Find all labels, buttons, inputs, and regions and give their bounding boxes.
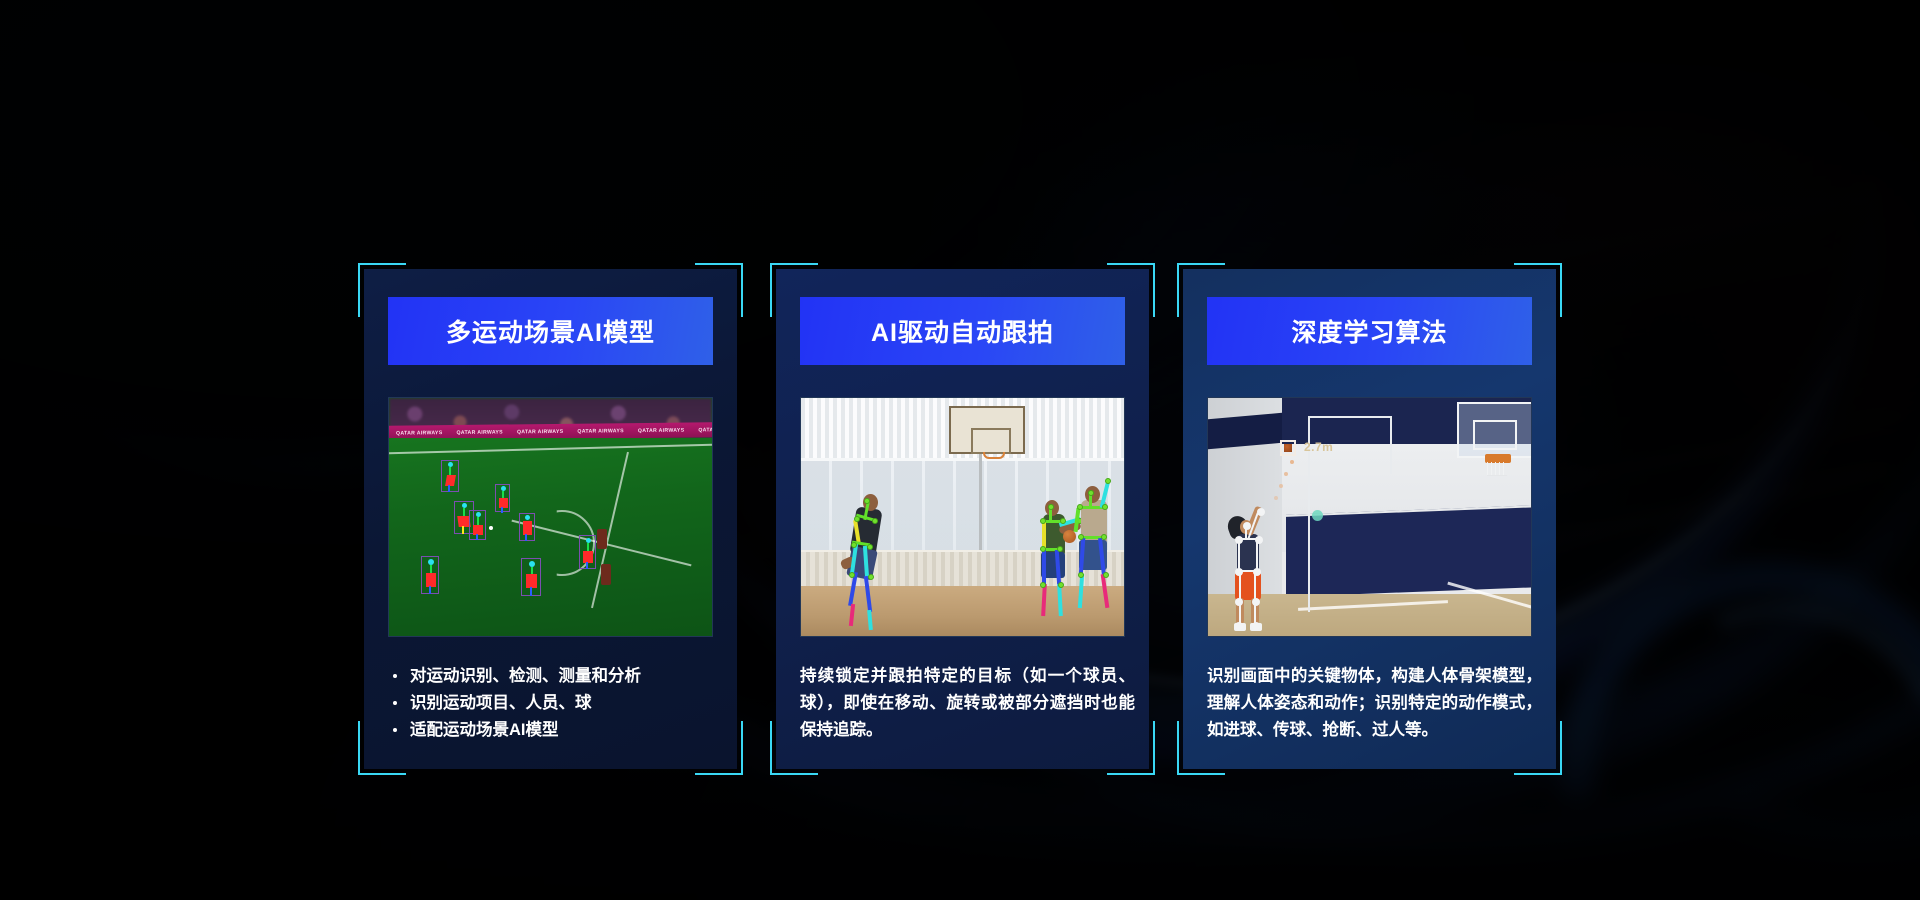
detection-box[interactable] [495,484,510,512]
detection-box[interactable] [579,535,596,569]
undetected-player [597,529,607,549]
list-item: 对运动识别、检测、测量和分析 [388,663,723,690]
list-item: 适配运动场景AI模型 [388,717,723,744]
feature-cards-row: 多运动场景AI模型 QATAR AIRWAYS QATAR AIRWAYS QA… [0,0,1920,900]
feature-bullet-list: 对运动识别、检测、测量和分析 识别运动项目、人员、球 适配运动场景AI模型 [388,663,723,744]
basketball-backboard [949,406,1025,454]
trajectory-line-horizontal [1308,416,1392,418]
soccer-ball [489,526,493,530]
ball-trail-point [1290,460,1294,464]
card-body: 持续锁定并跟拍特定的目标（如一个球员、球），即使在移动、旋转或被部分遮挡时也能保… [800,663,1135,744]
card-body: 对运动识别、检测、测量和分析 识别运动项目、人员、球 适配运动场景AI模型 [388,663,723,744]
undetected-player [601,564,611,585]
distance-label: 2.7m [1304,440,1333,454]
detection-box[interactable] [521,558,541,596]
detection-box[interactable] [421,556,439,594]
ball-tracking-box[interactable] [1280,440,1296,456]
card-panel: 多运动场景AI模型 QATAR AIRWAYS QATAR AIRWAYS QA… [364,269,737,769]
card-panel: 深度学习算法 [1183,269,1556,769]
gym-wall-padding [1286,505,1532,597]
detection-box[interactable] [469,510,486,540]
detection-box[interactable] [519,513,535,541]
ball-trail-point [1279,484,1283,488]
list-item: 识别运动项目、人员、球 [388,690,723,717]
card-title: 多运动场景AI模型 [388,297,713,365]
pitch-line-top [389,444,712,454]
sponsor-text: QATAR AIRWAYS [577,428,623,434]
detection-box[interactable] [441,460,459,492]
card-body: 识别画面中的关键物体，构建人体骨架模型，理解人体姿态和动作；识别特定的动作模式，… [1207,663,1542,744]
basketball-backboard [1457,402,1532,458]
card-panel: AI驱动自动跟拍 [776,269,1149,769]
card-title: AI驱动自动跟拍 [800,297,1125,365]
ball-trail-point [1284,472,1288,476]
card-media-gym-pose-estimation [800,397,1125,637]
sponsor-text: QATAR AIRWAYS [396,430,442,436]
basketball-rim [983,452,1005,459]
feature-card-multi-sport-ai-model[interactable]: 多运动场景AI模型 QATAR AIRWAYS QATAR AIRWAYS QA… [358,263,743,775]
tracking-marker [1312,510,1323,521]
hoop-pole [979,454,982,550]
sponsor-text: QATAR AIRWAYS [456,429,502,435]
ball-trail-point [1274,496,1278,500]
trajectory-line-vertical [1390,416,1392,474]
feature-description: 持续锁定并跟拍特定的目标（如一个球员、球），即使在移动、旋转或被部分遮挡时也能保… [800,663,1135,744]
feature-card-deep-learning-algorithm[interactable]: 深度学习算法 [1177,263,1562,775]
pose-skeleton-player-right[interactable] [1059,478,1123,634]
card-media-soccer-pitch-detection: QATAR AIRWAYS QATAR AIRWAYS QATAR AIRWAY… [388,397,713,637]
pose-skeleton-player-left[interactable] [839,486,901,634]
sponsor-text: QATAR AIRWAYS [698,426,712,432]
soccer-pitch [389,438,712,636]
sponsor-text: QATAR AIRWAYS [517,428,563,434]
card-media-shot-tracking: 2.7m [1207,397,1532,637]
sponsor-text: QATAR AIRWAYS [638,427,684,433]
basketball-net [1487,462,1507,476]
card-title: 深度学习算法 [1207,297,1532,365]
feature-description: 识别画面中的关键物体，构建人体骨架模型，理解人体姿态和动作；识别特定的动作模式，… [1207,663,1542,744]
pose-skeleton-shooter[interactable] [1228,510,1276,634]
feature-card-ai-auto-tracking[interactable]: AI驱动自动跟拍 [770,263,1155,775]
